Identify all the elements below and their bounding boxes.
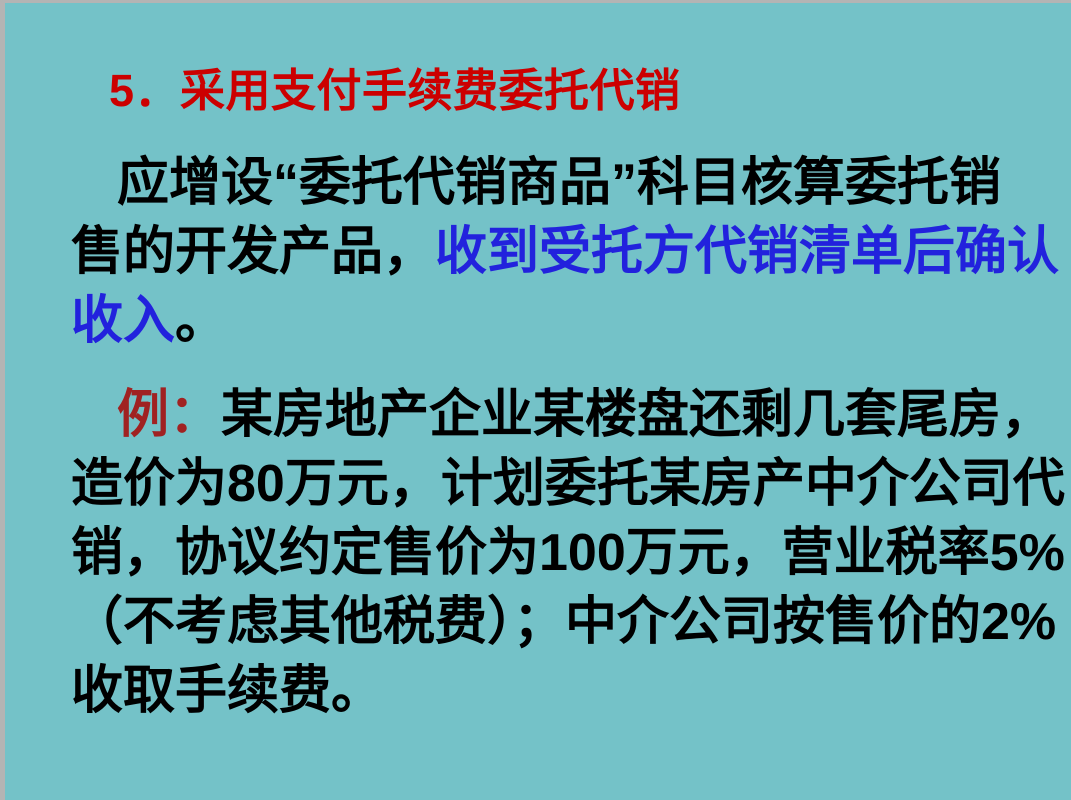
text-line: 销，协议约定售价为100万元，营业税率5% (71, 519, 1061, 588)
text-line: （不考虑其他税费）；中介公司按售价的2% (71, 588, 1061, 657)
text-run: 造价为80万元，计划委托某房产中介公司代 (71, 455, 1065, 513)
text-line: 售的开发产品，收到受托方代销清单后确认 (71, 218, 1061, 287)
slide-canvas: 5．采用支付手续费委托代销 应增设“委托代销商品”科目核算委托销售的开发产品，收… (0, 0, 1071, 800)
text-line: 应增设“委托代销商品”科目核算委托销 (71, 149, 1061, 218)
text-line: 收取手续费。 (71, 657, 1061, 726)
text-run: 某房地产企业某楼盘还剩几套尾房， (221, 386, 1053, 444)
text-run: 例： (117, 386, 221, 444)
text-run: 收到受托方代销清单后确认 (435, 223, 1059, 281)
text-run: 。 (175, 292, 227, 350)
text-line: 收入。 (71, 287, 1061, 356)
text-run: 应增设“委托代销商品”科目核算委托销 (117, 154, 1001, 212)
paragraph-statement: 应增设“委托代销商品”科目核算委托销售的开发产品，收到受托方代销清单后确认收入。 (71, 149, 1061, 356)
slide-content: 5．采用支付手续费委托代销 应增设“委托代销商品”科目核算委托销售的开发产品，收… (5, 3, 1071, 800)
text-run: 销，协议约定售价为100万元，营业税率5% (71, 524, 1065, 582)
text-run: 售的开发产品， (71, 223, 435, 281)
page-title: 5．采用支付手续费委托代销 (109, 66, 681, 116)
text-line: 例：某房地产企业某楼盘还剩几套尾房， (71, 381, 1061, 450)
text-run: （不考虑其他税费）；中介公司按售价的2% (71, 593, 1056, 651)
text-line: 造价为80万元，计划委托某房产中介公司代 (71, 450, 1061, 519)
text-run: 收取手续费。 (71, 662, 383, 720)
text-run: 收入 (71, 292, 175, 350)
paragraph-example: 例：某房地产企业某楼盘还剩几套尾房，造价为80万元，计划委托某房产中介公司代销，… (71, 381, 1061, 726)
